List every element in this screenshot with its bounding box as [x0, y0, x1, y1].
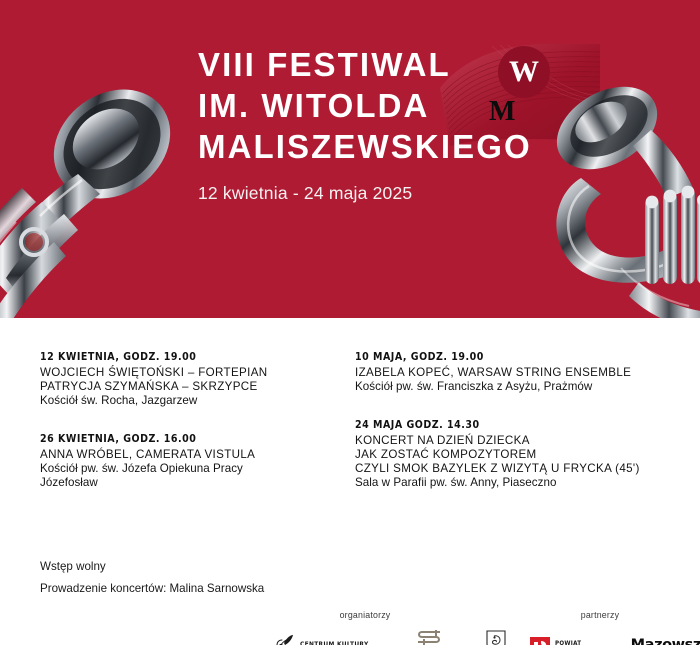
trumpet-illustration	[0, 82, 222, 318]
event-performer: CZYLI SMOK BAZYLEK Z WIZYTĄ U FRYCKA (45…	[355, 462, 660, 476]
event-performer: ANNA WRÓBEL, CAMERATA VISTULA	[40, 448, 330, 462]
general-notes: Wstęp wolny Prowadzenie koncertów: Malin…	[40, 556, 264, 600]
event-performer: PATRYCJA SZYMAŃSKA – SKRZYPCE	[40, 380, 330, 394]
hero-banner: W M	[0, 0, 700, 318]
powiat-crest-icon	[529, 636, 551, 645]
event-column-left: 12 KWIETNIA, GODZ. 19.00 WOJCIECH ŚWIĘTO…	[0, 352, 330, 516]
event-venue: Kościół pw. św. Franciszka z Asyżu, Praż…	[355, 380, 660, 394]
event-datetime: 26 KWIETNIA, GODZ. 16.00	[40, 434, 310, 445]
sztuka-pasja-mark-icon	[414, 629, 444, 645]
event-column-right: 10 MAJA, GODZ. 19.00 IZABELA KOPEĆ, WARS…	[330, 352, 660, 516]
festival-dates: 12 kwietnia - 24 maja 2025	[198, 183, 528, 204]
event-item: 24 MAJA GODZ. 14.30 KONCERT NA DZIEŃ DZI…	[355, 420, 660, 490]
title-line-1: VIII FESTIWAL	[198, 44, 528, 85]
program-section: 12 KWIETNIA, GODZ. 19.00 WOJCIECH ŚWIĘTO…	[0, 318, 700, 645]
organizers-group: organiatorzy	[250, 610, 480, 645]
event-datetime: 10 MAJA, GODZ. 19.00	[355, 352, 639, 363]
event-venue: Kościół św. Rocha, Jazgarzew	[40, 394, 330, 408]
event-venue: Józefosław	[40, 476, 330, 490]
logo-powiat-piaseczynski[interactable]: POWIAT PIASECZYŃSKI	[529, 636, 609, 645]
event-item: 12 KWIETNIA, GODZ. 19.00 WOJCIECH ŚWIĘTO…	[40, 352, 330, 408]
event-datetime: 24 MAJA GODZ. 14.30	[355, 420, 639, 431]
event-venue: Kościół pw. św. Józefa Opiekuna Pracy	[40, 462, 330, 476]
organizers-label: organiatorzy	[250, 610, 480, 620]
logo-sztuka-i-pasja[interactable]: SZTUKA I PASJA FUNDACJA	[396, 629, 461, 645]
event-columns: 12 KWIETNIA, GODZ. 19.00 WOJCIECH ŚWIĘTO…	[0, 352, 700, 516]
tuba-illustration	[529, 70, 700, 318]
festival-poster: W M	[0, 0, 700, 645]
event-item: 26 KWIETNIA, GODZ. 16.00 ANNA WRÓBEL, CA…	[40, 434, 330, 490]
partners-group: partnerzy Piaseczno	[480, 610, 700, 645]
ckp-line-1: CENTRUM KULTURY	[300, 640, 369, 645]
hero-text-block: VIII FESTIWAL IM. WITOLDA MALISZEWSKIEGO…	[198, 44, 528, 204]
event-datetime: 12 KWIETNIA, GODZ. 19.00	[40, 352, 310, 363]
admission-note: Wstęp wolny	[40, 556, 264, 578]
powiat-line-1: POWIAT	[555, 640, 604, 645]
piaseczno-crest-icon	[485, 629, 507, 645]
mazowsze-wordmark: Mazowsze.	[631, 638, 700, 645]
ckp-wordmark: CENTRUM KULTURY W PIASECZNIE	[300, 640, 369, 645]
sponsor-footer: organiatorzy	[0, 610, 700, 645]
title-line-3: MALISZEWSKIEGO	[198, 126, 528, 167]
powiat-wordmark: POWIAT PIASECZYŃSKI	[555, 640, 604, 645]
partners-label: partnerzy	[480, 610, 700, 620]
event-performer: JAK ZOSTAĆ KOMPOZYTOREM	[355, 448, 660, 462]
organizers-logos: CENTRUM KULTURY W PIASECZNIE	[250, 629, 480, 645]
event-performer: WOJCIECH ŚWIĘTOŃSKI – FORTEPIAN	[40, 366, 330, 380]
quill-desk-icon	[269, 634, 295, 645]
event-item: 10 MAJA, GODZ. 19.00 IZABELA KOPEĆ, WARS…	[355, 352, 660, 394]
host-note: Prowadzenie koncertów: Malina Sarnowska	[40, 578, 264, 600]
logo-piaseczno[interactable]: Piaseczno	[485, 629, 507, 645]
logo-centrum-kultury-w-piasecznie[interactable]: CENTRUM KULTURY W PIASECZNIE	[269, 634, 375, 645]
logo-mazowsze[interactable]: Mazowsze. serce Polski	[631, 638, 700, 645]
partners-logos: Piaseczno POWIAT PIASECZYŃSKI	[480, 629, 700, 645]
event-venue: Sala w Parafii pw. św. Anny, Piaseczno	[355, 476, 660, 490]
title-line-2: IM. WITOLDA	[198, 85, 528, 126]
event-performer: IZABELA KOPEĆ, WARSAW STRING ENSEMBLE	[355, 366, 660, 380]
event-performer: KONCERT NA DZIEŃ DZIECKA	[355, 434, 660, 448]
